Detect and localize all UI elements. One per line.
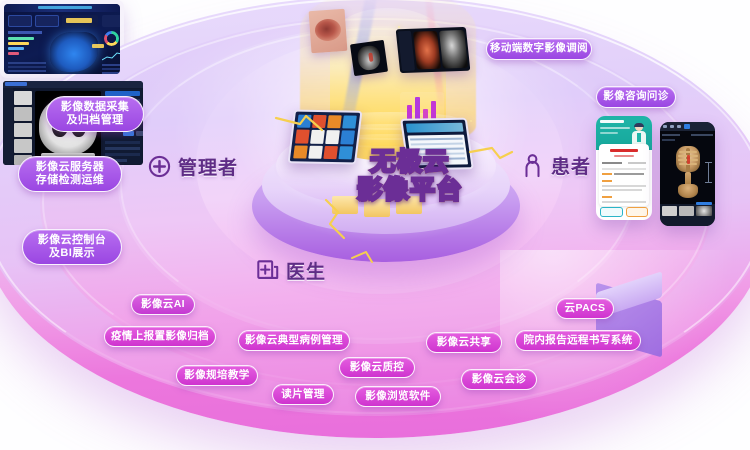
pill-doctor-1[interactable]: 疫情上报置影像归档 [104,326,216,347]
pill-line: 影像云会诊 [472,374,527,386]
pill-line: 存储检测运维 [36,174,104,187]
ultrasound-image-card [350,40,388,76]
title-line-2: 影像平台 [330,176,490,204]
title-line-1: 无极云 [330,148,490,176]
pill-line: 院内报告远程书写系统 [524,335,633,347]
cardiac-viewer-card [396,27,471,73]
pill-line: 影像云质控 [350,362,405,374]
pill-doctor-8[interactable]: 影像云会诊 [461,369,537,390]
role-admin[interactable]: 管理者 [148,153,238,180]
plus-circle-icon [148,155,171,178]
pill-line: 及BI展示 [49,247,95,260]
pill-line: 疫情上报置影像归档 [111,331,209,343]
pill-line: 影像咨询问诊 [603,91,668,103]
pill-doctor-7[interactable]: 影像浏览软件 [355,386,441,407]
sparkle [470,120,472,122]
pill-doctor-5[interactable]: 影像云共享 [426,332,502,353]
pill-admin-1[interactable]: 影像云服务器 存储检测运维 [18,156,122,192]
pill-doctor-0[interactable]: 影像云AI [131,294,195,315]
pill-doctor-4[interactable]: 读片管理 [272,384,334,405]
page-title: 无极云 影像平台 [330,148,490,204]
person-icon [521,154,544,177]
medical-record-plus-icon [256,259,279,282]
endoscopy-image-card [309,9,348,53]
sparkle [398,26,400,28]
pill-line: 读片管理 [281,389,325,401]
pill-line: 影像数据采集 [61,101,129,114]
pill-line: 影像云典型病例管理 [245,335,343,347]
admin-dashboard-screen [0,0,124,78]
patient-3d-imaging-phone [660,122,715,226]
pill-doctor-6[interactable]: 影像云质控 [339,357,415,378]
pill-admin-2[interactable]: 影像云控制台 及BI展示 [22,229,122,265]
pill-line: 移动端数字影像调阅 [490,43,588,55]
pill-patient-1[interactable]: 影像咨询问诊 [596,86,676,108]
pill-doctor-10[interactable]: 院内报告远程书写系统 [515,330,641,351]
role-doctor[interactable]: 医生 [256,257,326,284]
pill-line: 影像云AI [141,299,185,311]
pill-doctor-9[interactable]: 云PACS [556,298,614,319]
pill-line: 影像浏览软件 [365,391,430,403]
pill-line: 云PACS [565,303,606,315]
pill-admin-0[interactable]: 影像数据采集 及归档管理 [46,96,144,132]
role-admin-label: 管理者 [178,153,238,180]
pill-line: 影像云共享 [437,337,492,349]
patient-consult-phone [596,116,652,220]
pill-line: 影像规培教学 [184,370,249,382]
pill-doctor-3[interactable]: 影像规培教学 [176,365,258,386]
pill-patient-0[interactable]: 移动端数字影像调阅 [486,38,592,60]
pill-line: 影像云控制台 [38,234,106,247]
infographic-canvas: 管理者 患者 医生 无极云 影像平台 影像数据采集 及归档管理 影像云服务器 [0,0,750,450]
role-patient-label: 患者 [551,152,591,179]
pill-line: 影像云服务器 [36,161,104,174]
pill-line: 及归档管理 [67,114,124,127]
pill-doctor-2[interactable]: 影像云典型病例管理 [238,330,350,351]
role-doctor-label: 医生 [286,257,326,284]
role-patient[interactable]: 患者 [521,152,591,179]
